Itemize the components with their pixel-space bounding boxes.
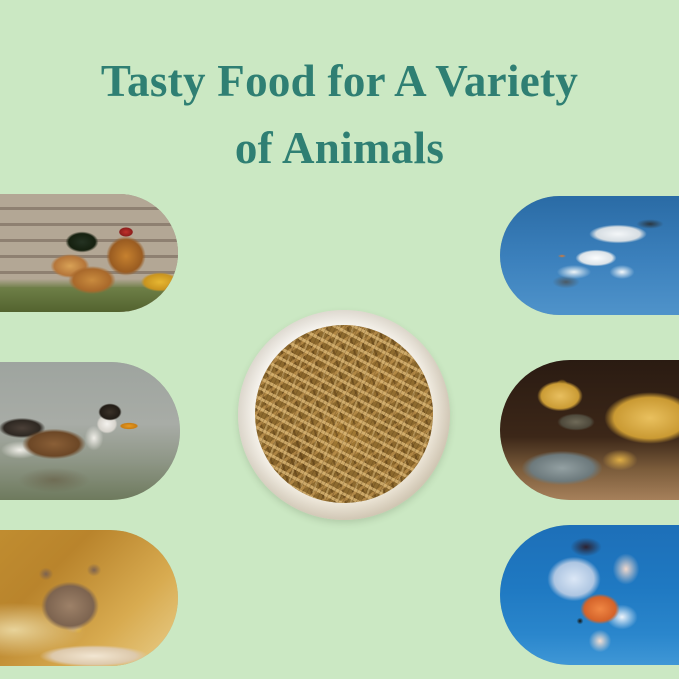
animal-photo-bearded-dragon [500,360,679,500]
mealworm-segment-texture [255,325,433,504]
product-poster: Tasty Food for A Variety of Animals [0,0,679,679]
mealworms-fill [255,325,433,504]
animal-photo-duck [0,362,180,500]
animal-photo-hamster [0,530,178,666]
animal-photo-betta-fish [500,525,679,665]
animal-photo-seagulls [500,196,679,315]
hamster-image [0,530,178,666]
seagulls-image [500,196,679,315]
page-title: Tasty Food for A Variety of Animals [0,48,679,182]
chickens-image [0,194,178,312]
duck-image [0,362,180,500]
betta-fish-image [500,525,679,665]
title-line-2: of Animals [0,115,679,182]
mealworm-bowl [238,310,450,520]
title-line-1: Tasty Food for A Variety [0,48,679,115]
animal-photo-chickens [0,194,178,312]
bearded-dragon-image [500,360,679,500]
